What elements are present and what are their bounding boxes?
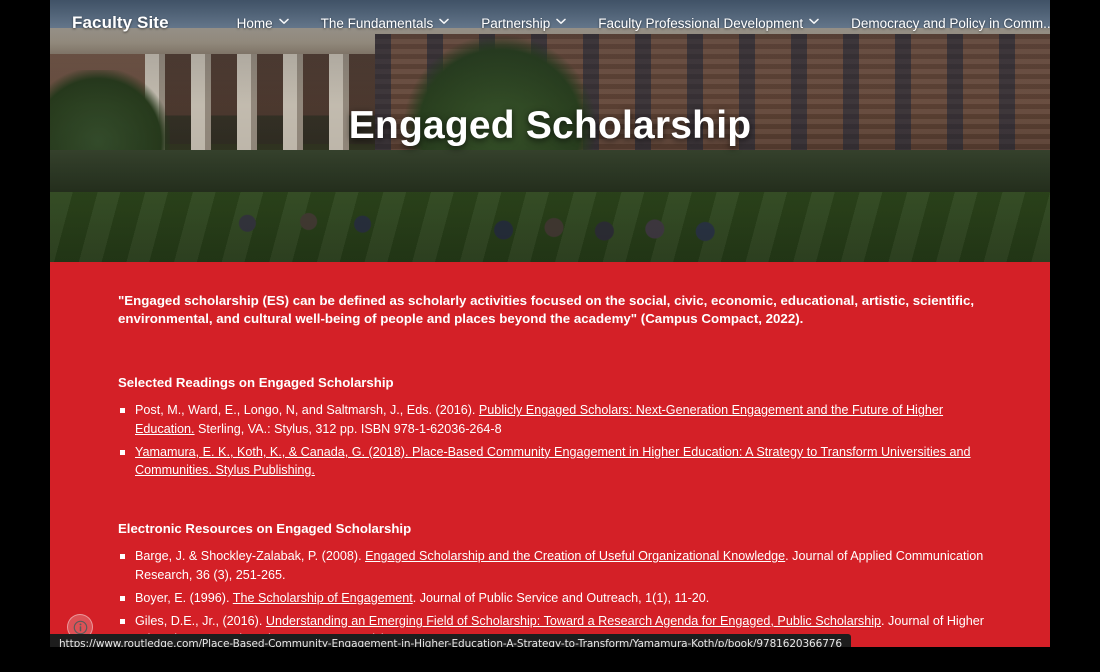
nav-items: Home The Fundamentals Partnership [221,10,1050,37]
reference-list: Post, M., Ward, E., Longo, N, and Saltma… [118,401,990,479]
nav-item-the-fundamentals[interactable]: The Fundamentals [305,10,466,37]
page-content: "Engaged scholarship (ES) can be defined… [50,262,1050,649]
reference-prefix: Barge, J. & Shockley-Zalabak, P. (2008). [135,549,365,563]
browser-page: Faculty Site Home The Fundamentals [50,0,1050,672]
chevron-down-icon [809,18,819,28]
nav-item-democracy-and-policy-in-communities[interactable]: Democracy and Policy in Comm... [835,10,1050,37]
hero-banner: Faculty Site Home The Fundamentals [50,0,1050,262]
reference-link[interactable]: Understanding an Emerging Field of Schol… [266,614,881,628]
reference-suffix: Sterling, VA.: Stylus, 312 pp. ISBN 978-… [195,422,502,436]
info-circle-icon [73,620,88,635]
list-item: Yamamura, E. K., Koth, K., & Canada, G. … [118,443,990,480]
reference-prefix: Giles, D.E., Jr., (2016). [135,614,266,628]
screen: Faculty Site Home The Fundamentals [0,0,1100,672]
chevron-down-icon [439,18,449,28]
lead-quote: "Engaged scholarship (ES) can be defined… [118,292,990,327]
nav-item-faculty-professional-development[interactable]: Faculty Professional Development [582,10,835,37]
reference-prefix: Boyer, E. (1996). [135,591,233,605]
bottom-chrome-strip [0,647,1100,672]
list-item: Post, M., Ward, E., Longo, N, and Saltma… [118,401,990,438]
site-navigation-bar: Faculty Site Home The Fundamentals [50,0,1050,46]
list-item: Barge, J. & Shockley-Zalabak, P. (2008).… [118,547,990,584]
page-title: Engaged Scholarship [50,104,1050,148]
nav-item-home[interactable]: Home [221,10,305,37]
section-heading: Selected Readings on Engaged Scholarship [118,375,990,390]
chevron-down-icon [279,18,289,28]
site-title[interactable]: Faculty Site [72,13,169,33]
nav-item-partnership[interactable]: Partnership [465,10,582,37]
section-selected-readings: Selected Readings on Engaged Scholarship… [118,375,990,479]
chevron-down-icon [556,18,566,28]
reference-prefix: Post, M., Ward, E., Longo, N, and Saltma… [135,403,479,417]
reference-link[interactable]: Yamamura, E. K., Koth, K., & Canada, G. … [135,445,971,477]
section-heading: Electronic Resources on Engaged Scholars… [118,521,990,536]
nav-item-democracy-and-policy-in-communities-label: Democracy and Policy in Comm... [851,16,1050,31]
reference-link[interactable]: Engaged Scholarship and the Creation of … [365,549,785,563]
reference-link[interactable]: The Scholarship of Engagement [233,591,413,605]
nav-item-the-fundamentals-label: The Fundamentals [321,16,434,31]
nav-item-home-label: Home [237,16,273,31]
reference-suffix: . Journal of Public Service and Outreach… [413,591,710,605]
list-item: Boyer, E. (1996). The Scholarship of Eng… [118,589,990,607]
nav-item-partnership-label: Partnership [481,16,550,31]
section-electronic-resources: Electronic Resources on Engaged Scholars… [118,521,990,648]
nav-item-faculty-professional-development-label: Faculty Professional Development [598,16,803,31]
